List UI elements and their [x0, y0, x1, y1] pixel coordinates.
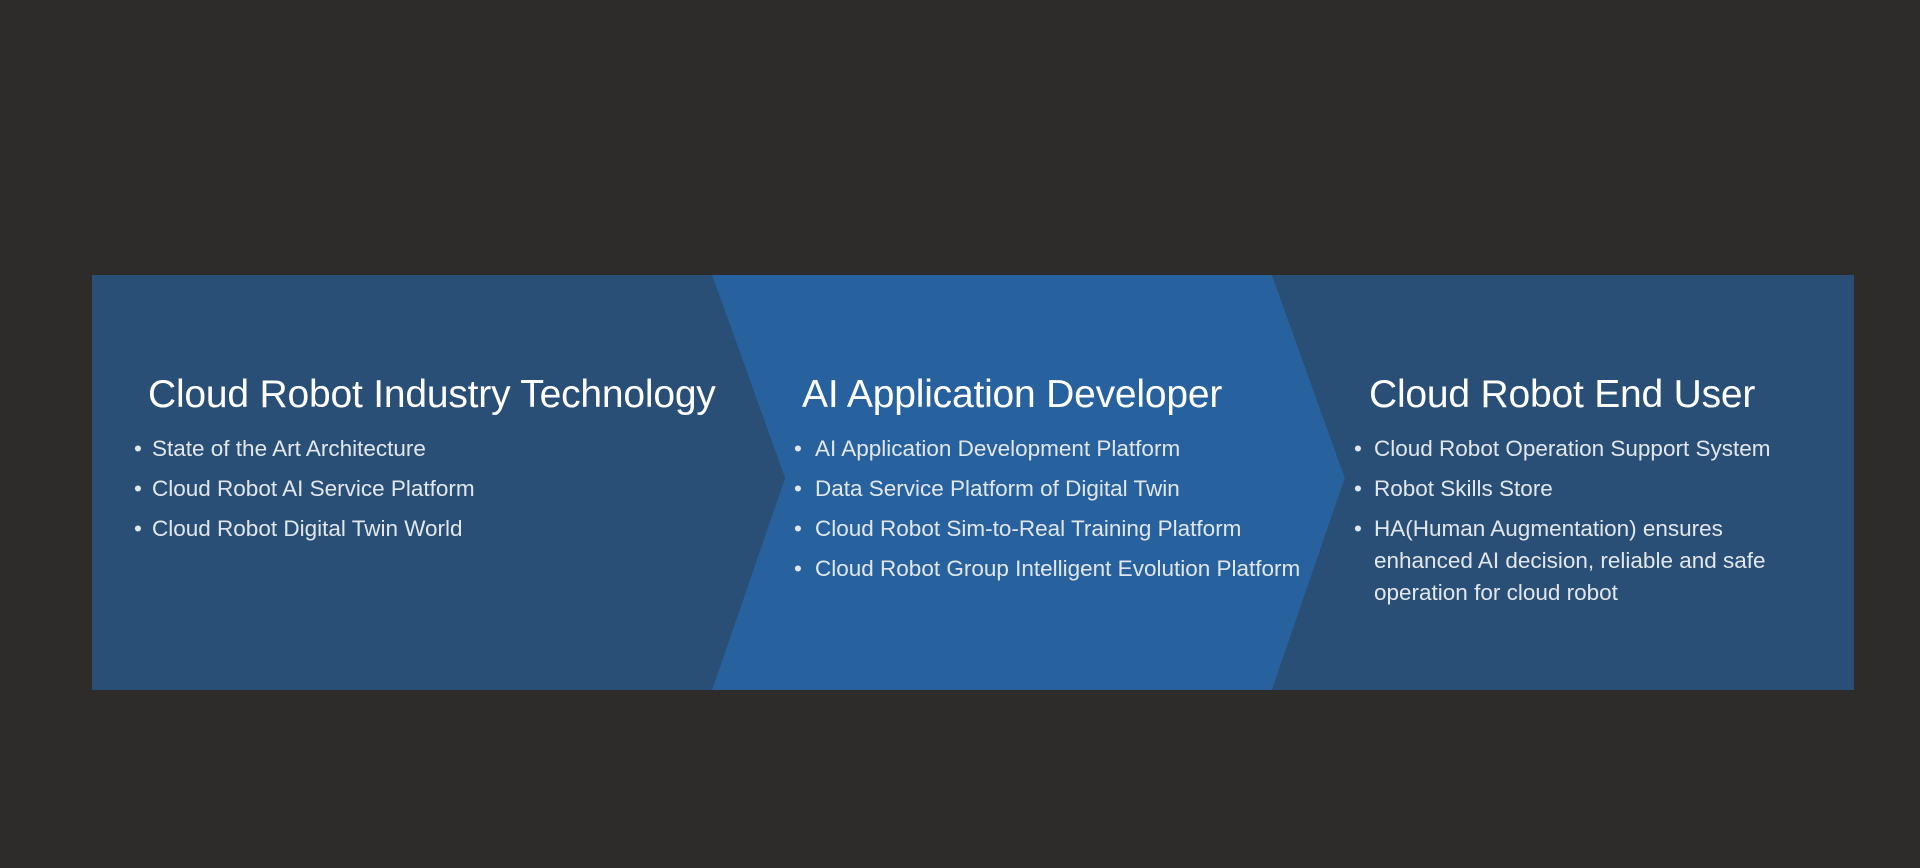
- panel-cloud-robot-industry-technology[interactable]: Cloud Robot Industry Technology • State …: [92, 275, 792, 690]
- list-item: • Robot Skills Store: [1352, 473, 1812, 505]
- bullet-dot-icon: •: [794, 553, 802, 585]
- bullet-dot-icon: •: [1354, 513, 1362, 545]
- panel-bullet-list-3: • Cloud Robot Operation Support System •…: [1352, 433, 1812, 617]
- list-item: • State of the Art Architecture: [132, 433, 475, 465]
- list-item: • Cloud Robot Sim-to-Real Training Platf…: [792, 513, 1300, 545]
- list-item-label: Cloud Robot Digital Twin World: [152, 516, 463, 541]
- list-item: • Cloud Robot AI Service Platform: [132, 473, 475, 505]
- list-item: • HA(Human Augmentation) ensures enhance…: [1352, 513, 1812, 609]
- slide-canvas: Cloud Robot Industry Technology • State …: [0, 0, 1920, 868]
- list-item-label: Robot Skills Store: [1374, 476, 1553, 501]
- panel-bullet-list-2: • AI Application Development Platform • …: [792, 433, 1300, 593]
- list-item-label: Data Service Platform of Digital Twin: [815, 476, 1180, 501]
- list-item-label: HA(Human Augmentation) ensures enhanced …: [1374, 516, 1766, 605]
- list-item-label: Cloud Robot AI Service Platform: [152, 476, 475, 501]
- bullet-dot-icon: •: [134, 473, 142, 505]
- panel-bullet-list-1: • State of the Art Architecture • Cloud …: [132, 433, 475, 553]
- list-item-label: Cloud Robot Operation Support System: [1374, 436, 1770, 461]
- list-item: • Cloud Robot Digital Twin World: [132, 513, 475, 545]
- bullet-dot-icon: •: [794, 513, 802, 545]
- list-item: • Cloud Robot Operation Support System: [1352, 433, 1812, 465]
- list-item-label: Cloud Robot Sim-to-Real Training Platfor…: [815, 516, 1241, 541]
- bullet-dot-icon: •: [794, 473, 802, 505]
- bullet-dot-icon: •: [134, 513, 142, 545]
- bullet-dot-icon: •: [1354, 473, 1362, 505]
- list-item: • Cloud Robot Group Intelligent Evolutio…: [792, 553, 1300, 585]
- bullet-dot-icon: •: [794, 433, 802, 465]
- panel-title-2: AI Application Developer: [802, 375, 1222, 416]
- list-item-label: State of the Art Architecture: [152, 436, 426, 461]
- list-item: • Data Service Platform of Digital Twin: [792, 473, 1300, 505]
- bullet-dot-icon: •: [134, 433, 142, 465]
- panel-title-3: Cloud Robot End User: [1369, 375, 1755, 416]
- panel-ai-application-developer[interactable]: AI Application Developer • AI Applicatio…: [792, 275, 1352, 690]
- list-item-label: Cloud Robot Group Intelligent Evolution …: [815, 556, 1300, 581]
- list-item-label: AI Application Development Platform: [815, 436, 1180, 461]
- list-item: • AI Application Development Platform: [792, 433, 1300, 465]
- panel-cloud-robot-end-user[interactable]: Cloud Robot End User • Cloud Robot Opera…: [1352, 275, 1872, 690]
- bullet-dot-icon: •: [1354, 433, 1362, 465]
- panel-title-1: Cloud Robot Industry Technology: [148, 375, 716, 416]
